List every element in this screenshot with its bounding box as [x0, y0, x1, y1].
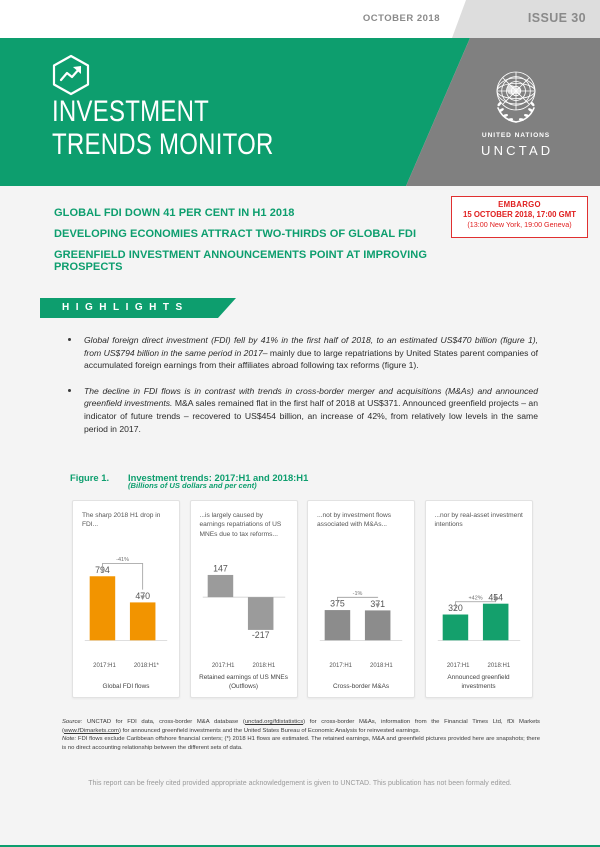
document-page: OCTOBER 2018 ISSUE 30 INVESTMENT TRENDS … — [0, 0, 600, 847]
trend-hexagon-icon — [51, 54, 91, 96]
chart-panel-3: ...not by investment flows associated wi… — [307, 500, 415, 698]
highlights-banner: HIGHLIGHTS — [40, 298, 236, 318]
bullet-dot-icon — [68, 389, 71, 392]
figure-panels: The sharp 2018 H1 drop in FDI...794470-4… — [72, 500, 530, 698]
highlights-bullets: Global foreign direct investment (FDI) f… — [62, 334, 538, 448]
source-text-c: ) for announced greenfield investments a… — [119, 728, 420, 734]
issue-number: ISSUE 30 — [528, 11, 586, 25]
x-tick-label: 2017:H1 — [329, 663, 352, 669]
source-label: Source: — [62, 719, 82, 725]
source-note: Source: UNCTAD for FDI data, cross-borde… — [62, 718, 540, 752]
panel-caption: The sharp 2018 H1 drop in FDI... — [82, 511, 172, 530]
panel-plot: 147-217 — [191, 545, 297, 665]
bar — [325, 610, 351, 640]
headline-list: GLOBAL FDI DOWN 41 PER CENT IN H1 2018 D… — [54, 207, 454, 282]
figure-subtitle: (Billions of US dollars and per cent) — [128, 481, 257, 490]
x-tick-label: 2018:H1 — [253, 663, 276, 669]
panel-footer-label: Global FDI flows — [77, 683, 175, 691]
masthead-banner: INVESTMENT TRENDS MONITOR — [0, 38, 600, 186]
bar — [207, 575, 233, 597]
bullet-dot-icon — [68, 338, 71, 341]
panel-x-labels: 2017:H12018:H1 — [308, 663, 414, 669]
chart-panel-1: The sharp 2018 H1 drop in FDI...794470-4… — [72, 500, 180, 698]
united-nations-emblem-icon — [481, 60, 551, 130]
embargo-label: EMBARGO — [452, 200, 587, 209]
bar — [90, 576, 116, 640]
bar-value-label: 147 — [213, 564, 228, 574]
panel-caption: ...not by investment flows associated wi… — [317, 511, 407, 530]
unctad-label: UNCTAD — [481, 143, 551, 158]
panel-footer-label: Cross-border M&As — [312, 683, 410, 691]
chart-panel-2: ...is largely caused by earnings repatri… — [190, 500, 298, 698]
note-text: FDI flows exclude Caribbean offshore fin… — [62, 736, 540, 751]
chart-panel-4: ...nor by real-asset investment intentio… — [425, 500, 533, 698]
source-link-fdimarkets[interactable]: www.fDimarkets.com — [64, 728, 119, 734]
bar — [247, 597, 273, 630]
panel-footer-label: Announced greenfield investments — [430, 674, 528, 691]
disclaimer-text: This report can be freely cited provided… — [0, 780, 600, 787]
bar — [130, 602, 156, 640]
source-text-a: UNCTAD for FDI data, cross-border M&A da… — [82, 719, 245, 725]
panel-plot: 320454+42% — [426, 545, 532, 665]
change-label: -1% — [353, 591, 363, 597]
bar — [482, 604, 508, 641]
issue-date: OCTOBER 2018 — [363, 13, 440, 24]
change-label: -41% — [116, 557, 129, 563]
panel-plot: 794470-41% — [73, 545, 179, 665]
x-tick-label: 2018:H1* — [134, 663, 159, 669]
embargo-local-times: (13:00 New York, 19:00 Geneva) — [452, 220, 587, 229]
headline-3: GREENFIELD INVESTMENT ANNOUNCEMENTS POIN… — [54, 249, 442, 273]
x-tick-label: 2017:H1 — [93, 663, 116, 669]
embargo-datetime: 15 OCTOBER 2018, 17:00 GMT — [452, 210, 587, 219]
note-label: Note: — [62, 736, 76, 742]
panel-footer-label: Retained earnings of US MNEs (Outflows) — [195, 674, 293, 691]
headline-2: DEVELOPING ECONOMIES ATTRACT TWO-THIRDS … — [54, 228, 442, 240]
x-tick-label: 2017:H1 — [212, 663, 235, 669]
panel-caption: ...is largely caused by earnings repatri… — [200, 511, 290, 539]
panel-x-labels: 2017:H12018:H1* — [73, 663, 179, 669]
bar — [442, 615, 468, 641]
figure-number: Figure 1. — [70, 472, 128, 483]
x-tick-label: 2018:H1 — [488, 663, 511, 669]
panel-x-labels: 2017:H12018:H1 — [426, 663, 532, 669]
highlights-label: HIGHLIGHTS — [62, 302, 189, 313]
bullet-item: Global foreign direct investment (FDI) f… — [62, 334, 538, 372]
title-line-2: TRENDS MONITOR — [52, 128, 274, 161]
title-line-1: INVESTMENT — [52, 95, 209, 128]
panel-plot: 375371-1% — [308, 545, 414, 665]
bullet-item: The decline in FDI flows is in contrast … — [62, 385, 538, 435]
top-strip: OCTOBER 2018 ISSUE 30 — [0, 0, 600, 38]
x-tick-label: 2018:H1 — [370, 663, 393, 669]
change-label: +42% — [468, 595, 482, 601]
publication-title: INVESTMENT TRENDS MONITOR — [52, 95, 274, 161]
embargo-box: EMBARGO 15 OCTOBER 2018, 17:00 GMT (13:0… — [451, 196, 588, 238]
united-nations-label: UNITED NATIONS — [481, 132, 551, 139]
bar-value-label: -217 — [251, 630, 269, 640]
x-tick-label: 2017:H1 — [447, 663, 470, 669]
panel-x-labels: 2017:H12018:H1 — [191, 663, 297, 669]
source-link-unctad[interactable]: unctad.org/fdistatistics — [245, 719, 303, 725]
panel-caption: ...nor by real-asset investment intentio… — [435, 511, 525, 530]
headline-1: GLOBAL FDI DOWN 41 PER CENT IN H1 2018 — [54, 207, 442, 219]
bar — [365, 610, 391, 640]
